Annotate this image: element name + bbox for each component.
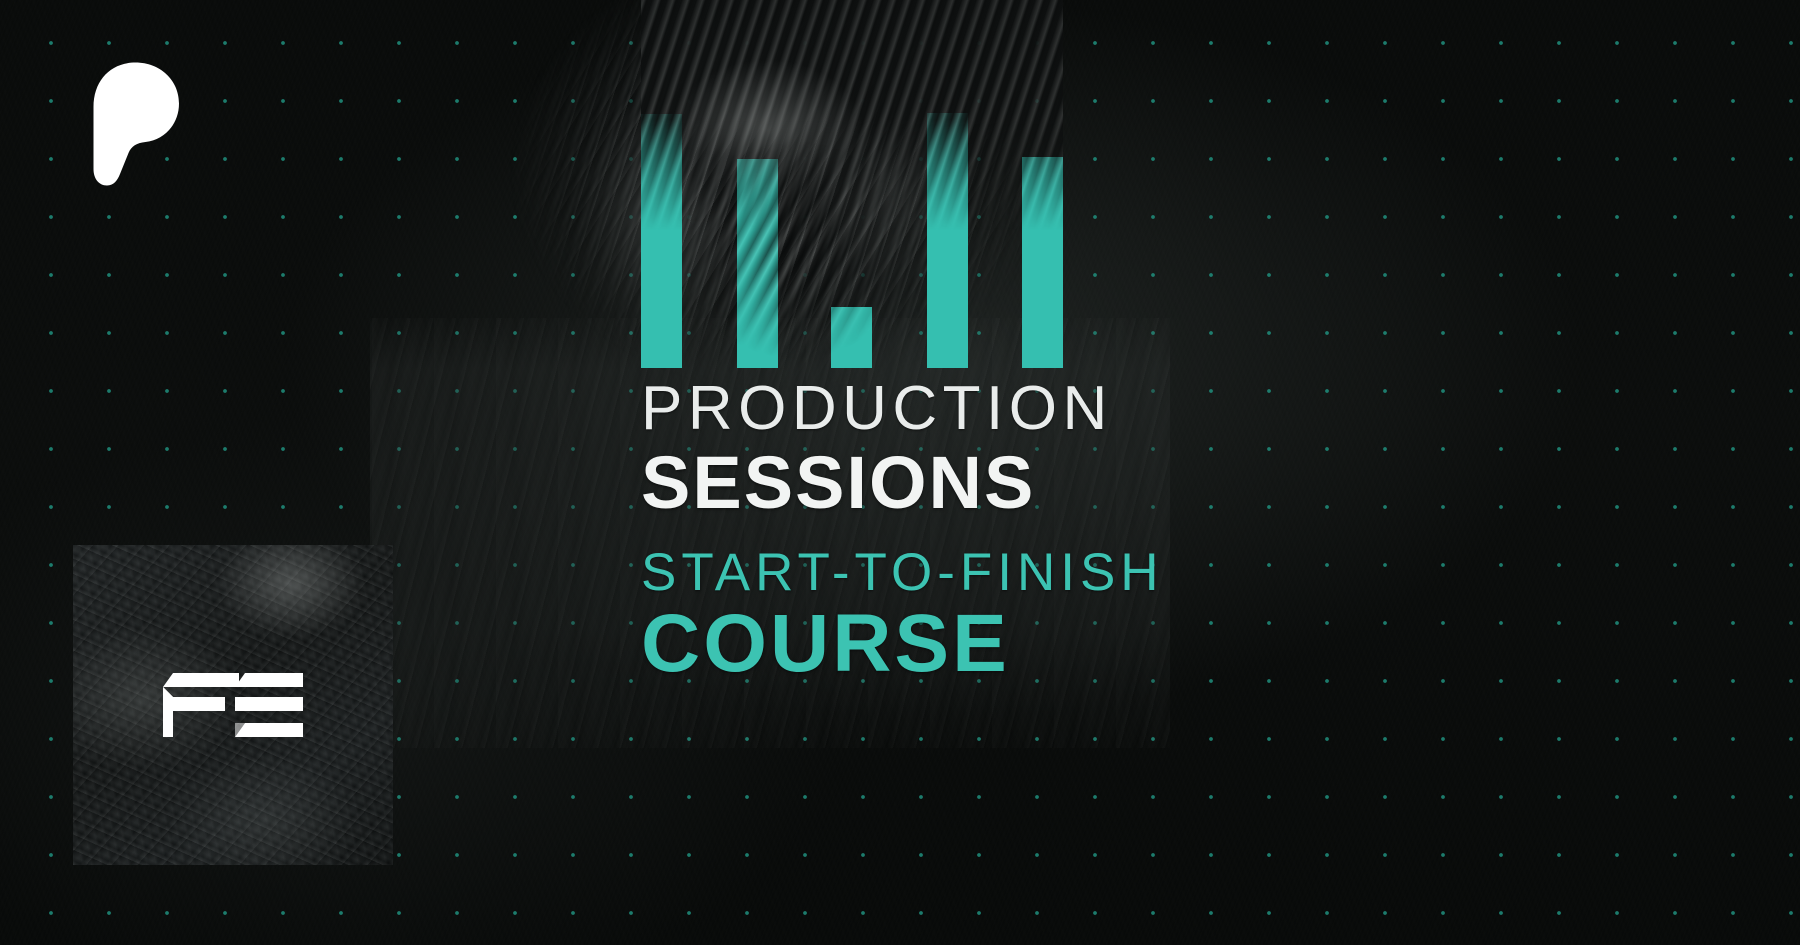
wordmark-line-course: COURSE	[641, 603, 1171, 685]
hero-wordmark: PRODUCTION SESSIONS START-TO-FINISH COUR…	[641, 378, 1171, 685]
patreon-creator-banner: PRODUCTION SESSIONS START-TO-FINISH COUR…	[0, 0, 1800, 945]
equalizer-bar	[831, 307, 872, 368]
equalizer-dark-overlay	[641, 0, 1063, 230]
fe-logo-icon	[163, 673, 303, 737]
wordmark-line-start-to-finish: START-TO-FINISH	[641, 546, 1171, 599]
wordmark-line-sessions: SESSIONS	[641, 446, 1171, 520]
patreon-logo[interactable]	[72, 60, 184, 188]
equalizer-bar	[927, 113, 968, 368]
creator-avatar[interactable]	[73, 545, 393, 865]
equalizer-bar	[1022, 157, 1063, 368]
equalizer-bars-mark	[641, 0, 1063, 368]
equalizer-bar	[737, 159, 778, 368]
equalizer-bar	[641, 114, 682, 368]
wordmark-line-production: PRODUCTION	[641, 378, 1171, 440]
